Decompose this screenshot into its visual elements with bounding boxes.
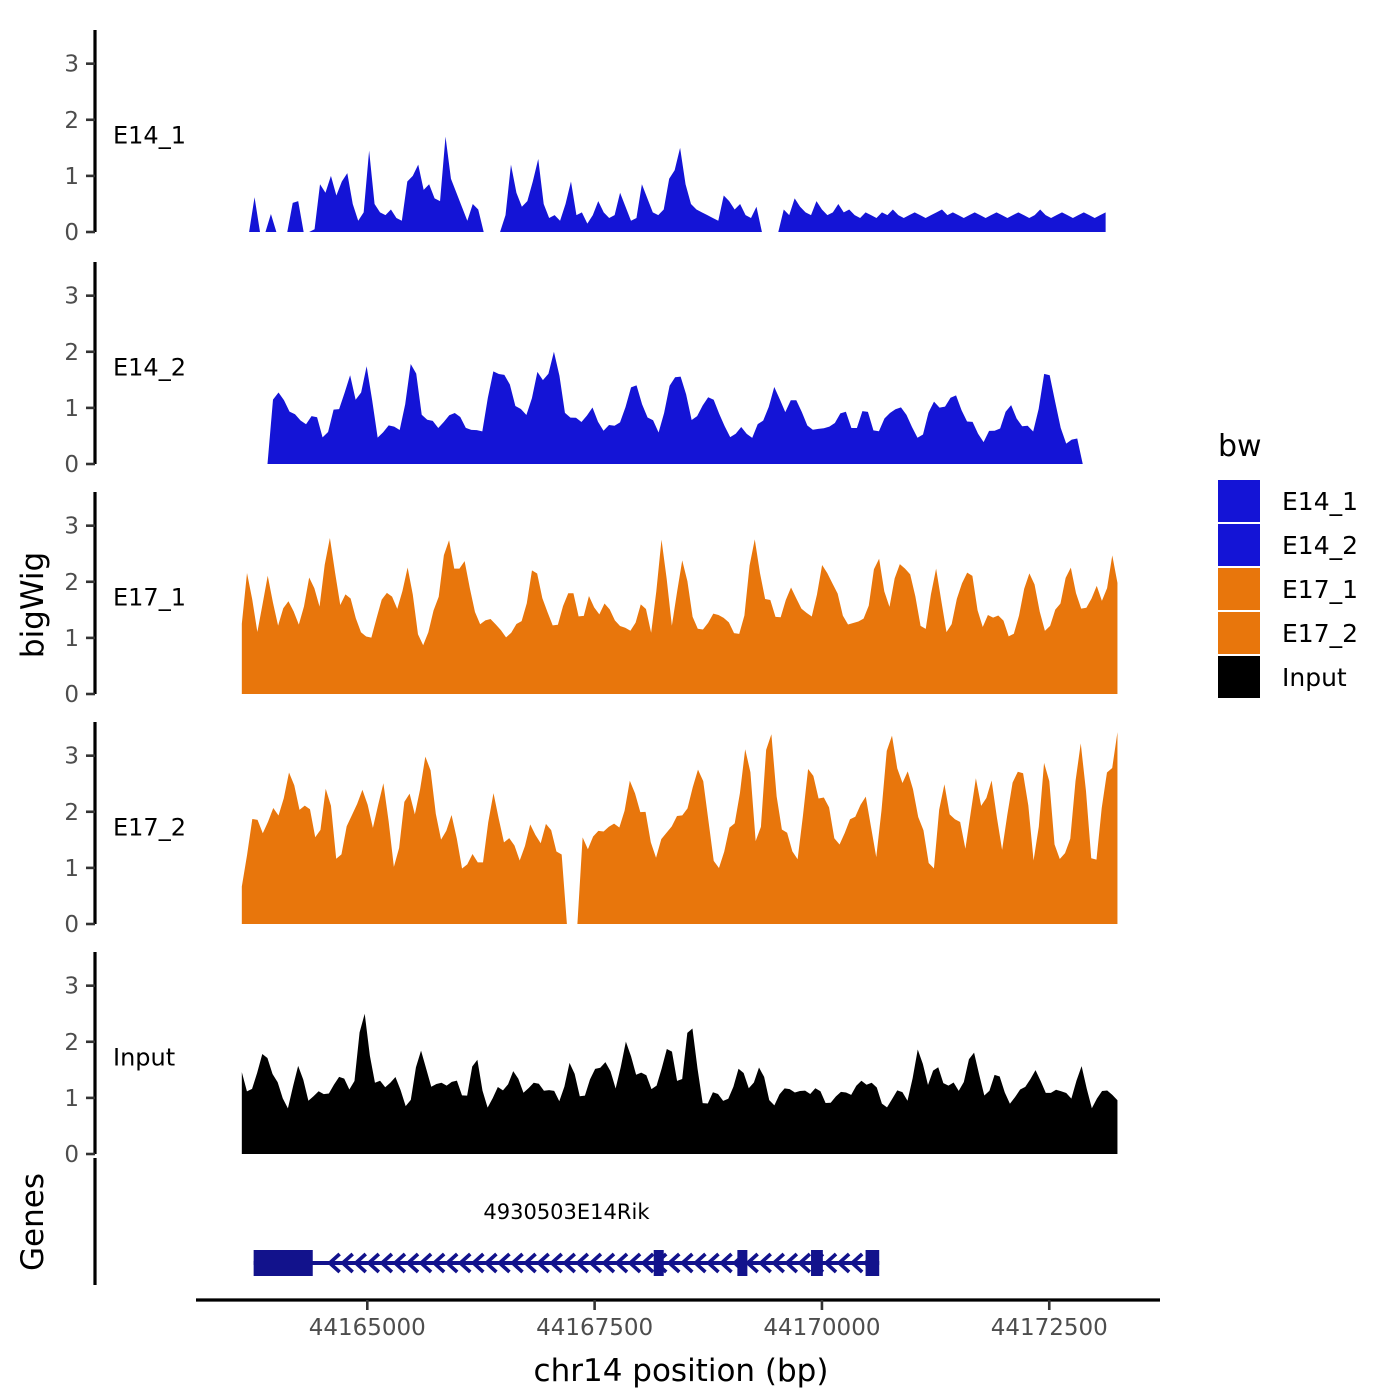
signal-area-e17_2 xyxy=(242,732,1118,924)
signal-area-input xyxy=(242,1014,1118,1154)
panel-strip-label-e14_2: E14_2 xyxy=(113,353,186,381)
y-tick-label: 3 xyxy=(64,514,79,540)
y-tick-label: 3 xyxy=(64,284,79,310)
y-tick-label: 3 xyxy=(64,744,79,770)
legend-swatch-e17_2[interactable] xyxy=(1218,612,1260,654)
legend-swatch-input[interactable] xyxy=(1218,656,1260,698)
gene-exon[interactable] xyxy=(737,1250,747,1276)
x-axis-title: chr14 position (bp) xyxy=(534,1353,829,1389)
y-tick-label: 1 xyxy=(64,396,79,422)
y-tick-label: 3 xyxy=(64,974,79,1000)
x-tick-label: 44172500 xyxy=(991,1315,1108,1341)
y-tick-label: 2 xyxy=(64,570,79,596)
panel-strip-label-input: Input xyxy=(113,1043,175,1071)
legend-swatch-e14_2[interactable] xyxy=(1218,524,1260,566)
gene-exon[interactable] xyxy=(254,1250,313,1276)
track-panel-e17_1: 0123 xyxy=(64,492,1117,708)
gene-exon[interactable] xyxy=(866,1250,880,1276)
y-tick-label: 3 xyxy=(64,52,79,78)
y-tick-label: 2 xyxy=(64,340,79,366)
y-tick-label: 0 xyxy=(64,220,79,246)
y-tick-label: 2 xyxy=(64,1030,79,1056)
panel-strip-label-e17_1: E17_1 xyxy=(113,583,186,611)
y-tick-label: 1 xyxy=(64,164,79,190)
y-tick-label: 0 xyxy=(64,452,79,478)
y-tick-label: 1 xyxy=(64,1086,79,1112)
legend-label-input: Input xyxy=(1282,663,1347,692)
track-panel-e17_2: 0123 xyxy=(64,722,1117,938)
panel-strip-label-e17_2: E17_2 xyxy=(113,813,186,841)
signal-area-e17_1 xyxy=(242,538,1118,694)
y-tick-label: 0 xyxy=(64,682,79,708)
genes-axis-title: Genes xyxy=(15,1173,51,1271)
legend-label-e17_1: E17_1 xyxy=(1282,575,1358,604)
legend-label-e14_1: E14_1 xyxy=(1282,487,1358,516)
y-tick-label: 2 xyxy=(64,800,79,826)
legend-title: bw xyxy=(1218,429,1262,464)
panel-strip-label-e14_1: E14_1 xyxy=(113,121,186,149)
legend-swatch-e17_1[interactable] xyxy=(1218,568,1260,610)
gene-exon[interactable] xyxy=(654,1250,664,1276)
signal-area-e14_2 xyxy=(245,352,1099,464)
track-panel-e14_1: 0123 xyxy=(64,30,1105,246)
gene-name-label: 4930503E14Rik xyxy=(483,1200,650,1224)
y-tick-label: 0 xyxy=(64,912,79,938)
legend: bwE14_1E14_2E17_1E17_2Input xyxy=(1218,429,1358,698)
y-tick-label: 2 xyxy=(64,108,79,134)
legend-swatch-e14_1[interactable] xyxy=(1218,480,1260,522)
y-tick-label: 1 xyxy=(64,626,79,652)
figure-root: 0123E14_10123E14_20123E17_10123E17_20123… xyxy=(0,0,1400,1400)
y-tick-label: 0 xyxy=(64,1142,79,1168)
bigwig-genome-browser-figure: 0123E14_10123E14_20123E17_10123E17_20123… xyxy=(0,0,1400,1400)
x-tick-label: 44165000 xyxy=(309,1315,426,1341)
y-tick-label: 1 xyxy=(64,856,79,882)
x-tick-label: 44167500 xyxy=(536,1315,653,1341)
gene-exon[interactable] xyxy=(811,1250,823,1276)
gene-track-panel: 4930503E14Rik xyxy=(95,1158,879,1285)
y-axis-title: bigWig xyxy=(15,552,51,658)
x-tick-label: 44170000 xyxy=(763,1315,880,1341)
track-panel-e14_2: 0123 xyxy=(64,262,1099,478)
signal-area-e14_1 xyxy=(249,137,1106,232)
legend-label-e14_2: E14_2 xyxy=(1282,531,1358,560)
track-panel-input: 0123 xyxy=(64,952,1117,1168)
legend-label-e17_2: E17_2 xyxy=(1282,619,1358,648)
